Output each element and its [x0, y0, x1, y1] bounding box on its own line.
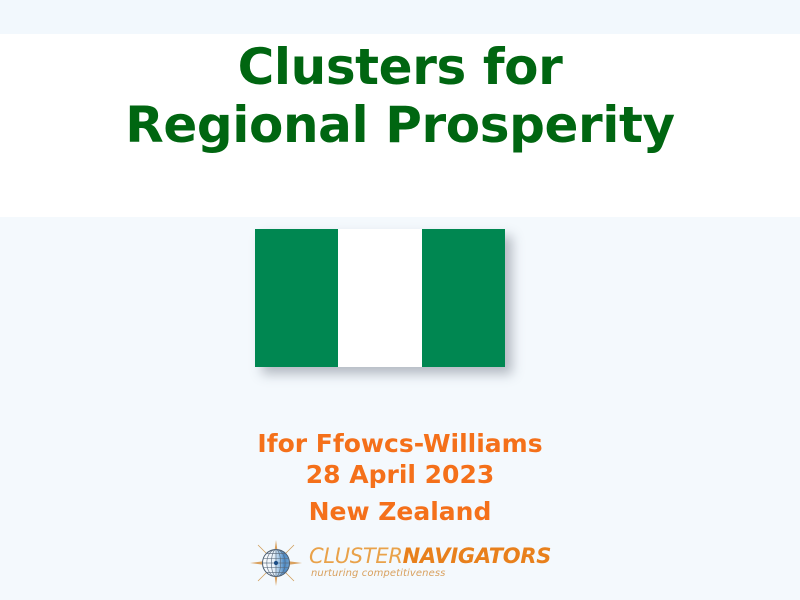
flag-stripe-green-left [255, 229, 338, 367]
title-slide: Clusters for Regional Prosperity Ifor Ff… [0, 0, 800, 600]
flag-stripes [255, 229, 505, 367]
presenter-name: Ifor Ffowcs-Williams [0, 428, 800, 459]
slide-title-line-2: Regional Prosperity [0, 96, 800, 154]
logo-wordmark: CLUSTERNAVIGATORS [309, 544, 551, 568]
presentation-date: 28 April 2023 [0, 459, 800, 490]
logo-inner: CLUSTERNAVIGATORS nurturing competitiven… [249, 539, 551, 587]
logo-word-navigators: NAVIGATORS [403, 544, 551, 568]
slide-title: Clusters for Regional Prosperity [0, 38, 800, 154]
flag-stripe-white [338, 229, 421, 367]
globe-compass-icon [249, 539, 303, 587]
flag-stripe-green-right [422, 229, 505, 367]
logo-word-cluster: CLUSTER [309, 544, 403, 568]
logo-text: CLUSTERNAVIGATORS nurturing competitiven… [309, 545, 551, 582]
cluster-navigators-logo: CLUSTERNAVIGATORS nurturing competitiven… [0, 539, 800, 587]
nigeria-flag [255, 229, 505, 367]
logo-tagline: nurturing competitiveness [309, 567, 551, 580]
presenter-location: New Zealand [0, 490, 800, 527]
background-band-top [0, 0, 800, 34]
presenter-details: Ifor Ffowcs-Williams 28 April 2023 New Z… [0, 428, 800, 527]
slide-title-line-1: Clusters for [0, 38, 800, 96]
